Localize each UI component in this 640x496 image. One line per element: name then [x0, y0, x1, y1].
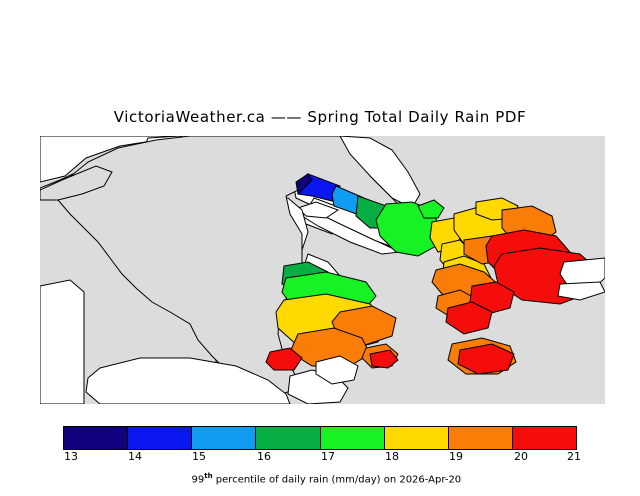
colorbar-segment-17-18[interactable] — [321, 427, 385, 449]
caption-percentile-suffix: th — [204, 472, 212, 480]
colorbar-segment-18-19[interactable] — [385, 427, 449, 449]
colorbar-segment-20-21[interactable] — [513, 427, 576, 449]
colorbar-segment-13-14[interactable] — [64, 427, 128, 449]
colorbar-caption: 99th percentile of daily rain (mm/day) o… — [0, 461, 640, 496]
southern-white-land — [86, 356, 358, 404]
map-panel[interactable] — [40, 136, 605, 404]
precipitation-choropleth-map[interactable] — [40, 136, 605, 404]
colorbar-segment-14-15[interactable] — [128, 427, 192, 449]
colorbar-segment-15-16[interactable] — [192, 427, 256, 449]
page-title: VictoriaWeather.ca —— Spring Total Daily… — [0, 108, 640, 126]
colorbar-segment-19-20[interactable] — [449, 427, 513, 449]
weather-map-page: VictoriaWeather.ca —— Spring Total Daily… — [0, 0, 640, 480]
colorbar-segment-16-17[interactable] — [256, 427, 320, 449]
colorbar[interactable] — [63, 426, 577, 450]
colorbar-segments[interactable] — [63, 426, 577, 450]
region-outside-domain-east-lower — [558, 282, 605, 300]
domain-left-edge — [40, 280, 84, 404]
